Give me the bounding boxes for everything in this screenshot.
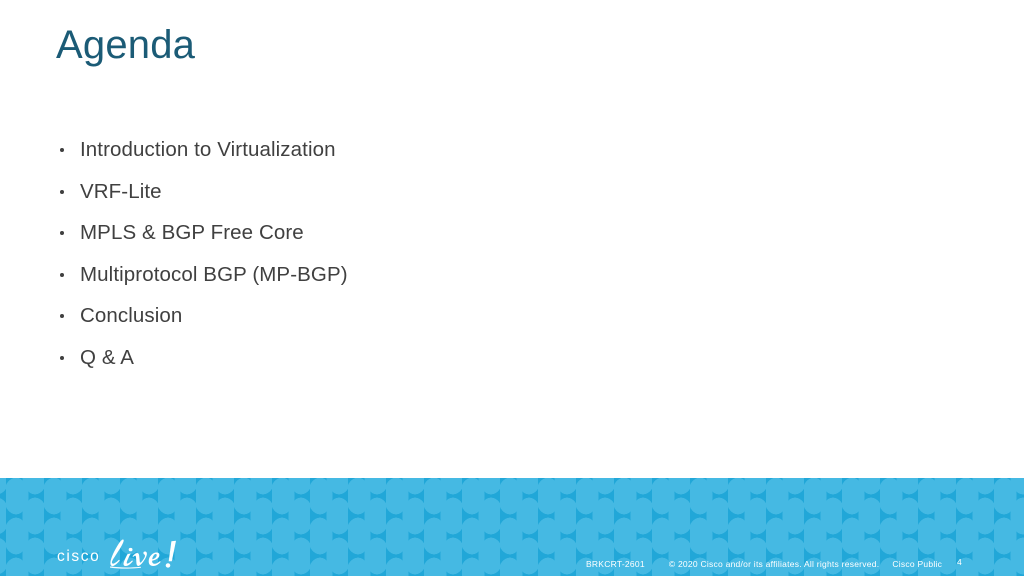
cisco-wordmark: cisco [57, 549, 100, 571]
session-code: BRKCRT-2601 [586, 559, 645, 569]
footer-metadata: BRKCRT-2601 © 2020 Cisco and/or its affi… [586, 557, 942, 571]
agenda-list: Introduction to Virtualization VRF-Lite … [56, 137, 816, 386]
page-title: Agenda [56, 21, 195, 69]
agenda-item-label: MPLS & BGP Free Core [80, 221, 304, 244]
agenda-item-4: Conclusion [56, 303, 816, 345]
bullet-icon [60, 356, 64, 360]
bullet-icon [60, 273, 64, 277]
agenda-item-label: Introduction to Virtualization [80, 138, 336, 161]
agenda-item-label: Multiprotocol BGP (MP-BGP) [80, 263, 348, 286]
agenda-item-2: MPLS & BGP Free Core [56, 220, 816, 262]
agenda-item-label: VRF-Lite [80, 180, 162, 203]
agenda-item-0: Introduction to Virtualization [56, 137, 816, 179]
classification-label: Cisco Public [892, 559, 942, 569]
agenda-item-5: Q & A [56, 345, 816, 387]
page-number: 4 [957, 557, 962, 567]
bullet-icon [60, 190, 64, 194]
agenda-item-label: Conclusion [80, 304, 182, 327]
agenda-item-3: Multiprotocol BGP (MP-BGP) [56, 262, 816, 304]
bullet-icon [60, 231, 64, 235]
bullet-icon [60, 314, 64, 318]
cisco-live-logo: cisco [57, 537, 192, 570]
bullet-icon [60, 148, 64, 152]
agenda-item-label: Q & A [80, 346, 134, 369]
copyright-notice: © 2020 Cisco and/or its affiliates. All … [669, 559, 880, 569]
live-script-logo-icon [106, 537, 192, 570]
slide: Agenda Introduction to Virtualization VR… [0, 0, 1024, 576]
agenda-item-1: VRF-Lite [56, 179, 816, 221]
